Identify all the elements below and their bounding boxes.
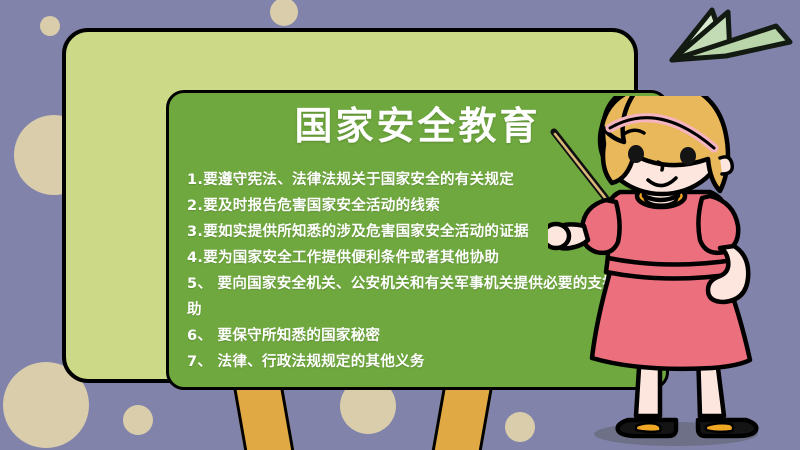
decorative-circle: [270, 0, 298, 26]
decorative-circle: [505, 412, 535, 442]
easel-leg-left: [232, 380, 294, 450]
decorative-circle: [40, 16, 60, 36]
poster-canvas: 国家安全教育 1.要遵守宪法、法律法规关于国家安全的有关规定2.要及时报告危害国…: [0, 0, 800, 450]
paper-airplane-icon: [668, 2, 796, 68]
easel-leg-right: [432, 380, 494, 450]
decorative-circle: [123, 405, 153, 435]
teacher-girl-illustration: [548, 96, 800, 450]
